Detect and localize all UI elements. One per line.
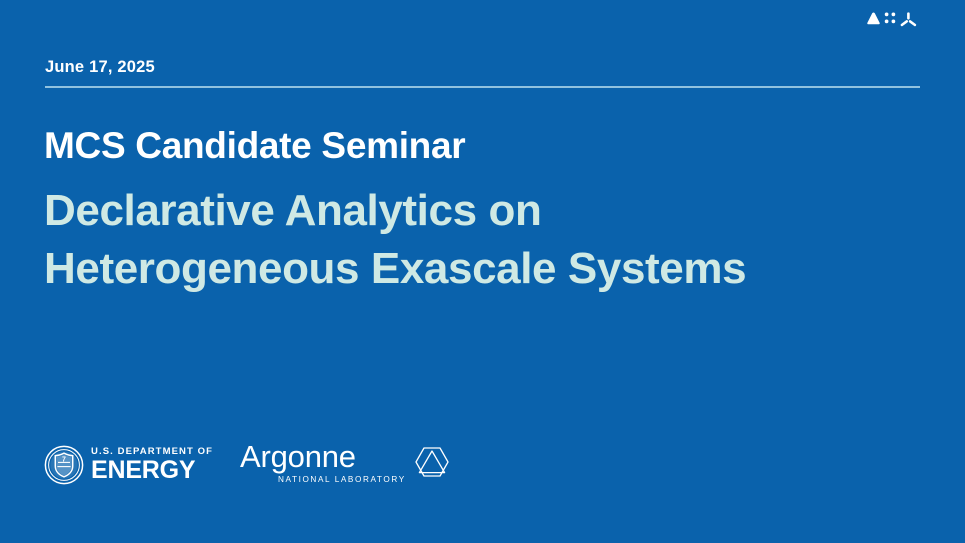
- doe-energy-label: ENERGY: [91, 457, 213, 483]
- slide-date: June 17, 2025: [45, 58, 155, 77]
- doe-wordmark: U.S. DEPARTMENT OF ENERGY: [91, 447, 213, 483]
- title-block: MCS Candidate Seminar Declarative Analyt…: [44, 126, 924, 299]
- header-divider: [45, 86, 920, 88]
- doe-logo: 7 U.S. DEPARTMENT OF ENERGY: [44, 443, 213, 487]
- argonne-hexagon-icon: [411, 443, 453, 481]
- talk-title-line-2: Heterogeneous Exascale Systems: [44, 240, 924, 299]
- tripod-icon: [900, 12, 917, 26]
- svg-text:7: 7: [62, 457, 66, 464]
- argonne-name-label: Argonne: [240, 441, 406, 472]
- four-dots-icon: [885, 13, 896, 24]
- logo-row: 7 U.S. DEPARTMENT OF ENERGY Argonne NATI…: [44, 438, 453, 492]
- triangle-icon: [867, 13, 880, 25]
- title-slide: June 17, 2025: [0, 0, 965, 543]
- doe-seal-icon: 7: [44, 445, 84, 485]
- argonne-wordmark: Argonne NATIONAL LABORATORY: [240, 441, 406, 484]
- slide-header: June 17, 2025: [45, 58, 920, 92]
- talk-title: Declarative Analytics on Heterogeneous E…: [44, 166, 924, 299]
- seminar-title: MCS Candidate Seminar: [44, 126, 924, 166]
- argonne-corner-motif: [864, 8, 920, 30]
- talk-title-line-1: Declarative Analytics on: [44, 182, 924, 241]
- argonne-subtitle-label: NATIONAL LABORATORY: [240, 472, 406, 484]
- argonne-logo: Argonne NATIONAL LABORATORY: [240, 439, 453, 491]
